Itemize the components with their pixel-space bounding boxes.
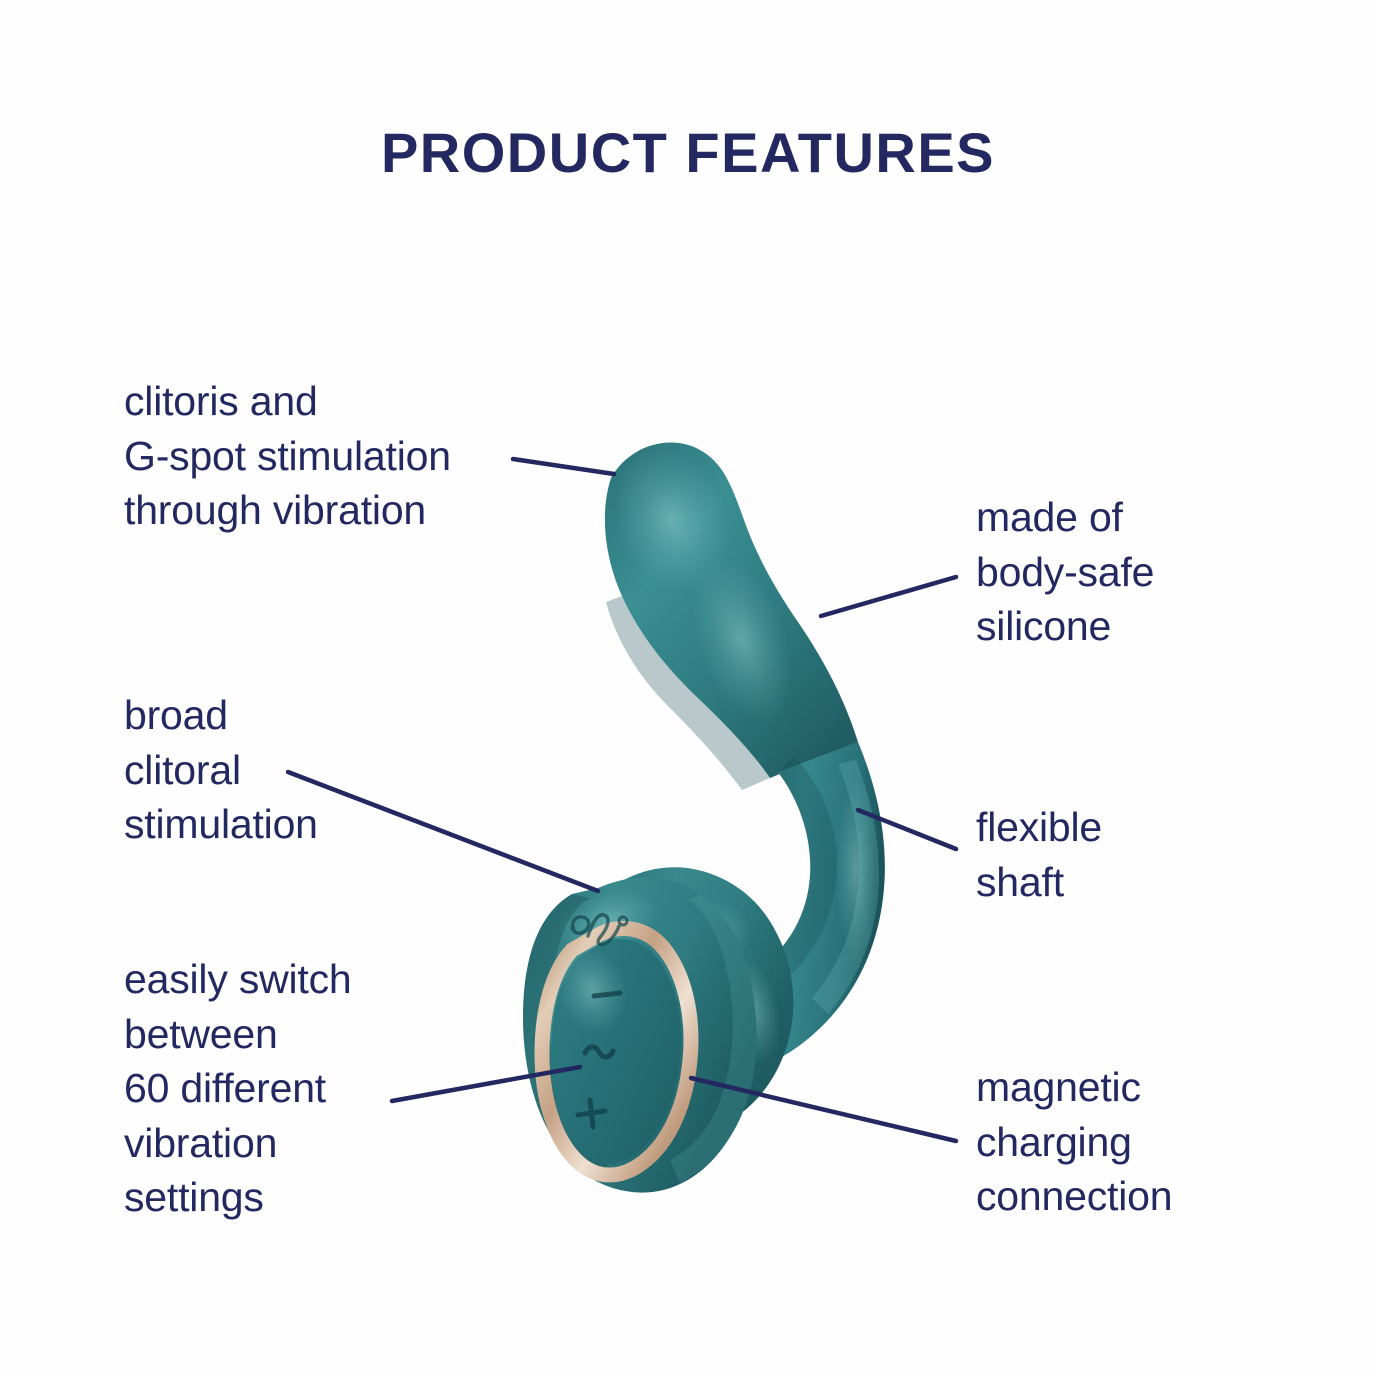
callout-clitoris-gspot-stimulation: clitoris and G-spot stimulation through … <box>124 374 554 538</box>
control-panel[interactable] <box>542 928 691 1175</box>
product-features-infographic: PRODUCT FEATURES <box>0 0 1376 1376</box>
product-upper-arm <box>592 430 858 790</box>
callout-sixty-vibration-settings: easily switch between 60 different vibra… <box>124 952 484 1225</box>
callout-broad-clitoral-stimulation: broad clitoral stimulation <box>124 688 454 852</box>
callout-body-safe-silicone: made of body-safe silicone <box>976 490 1276 654</box>
decrease-button[interactable] <box>594 993 620 996</box>
callout-magnetic-charging-connection: magnetic charging connection <box>976 1060 1296 1224</box>
callout-flexible-shaft: flexible shaft <box>976 800 1276 909</box>
